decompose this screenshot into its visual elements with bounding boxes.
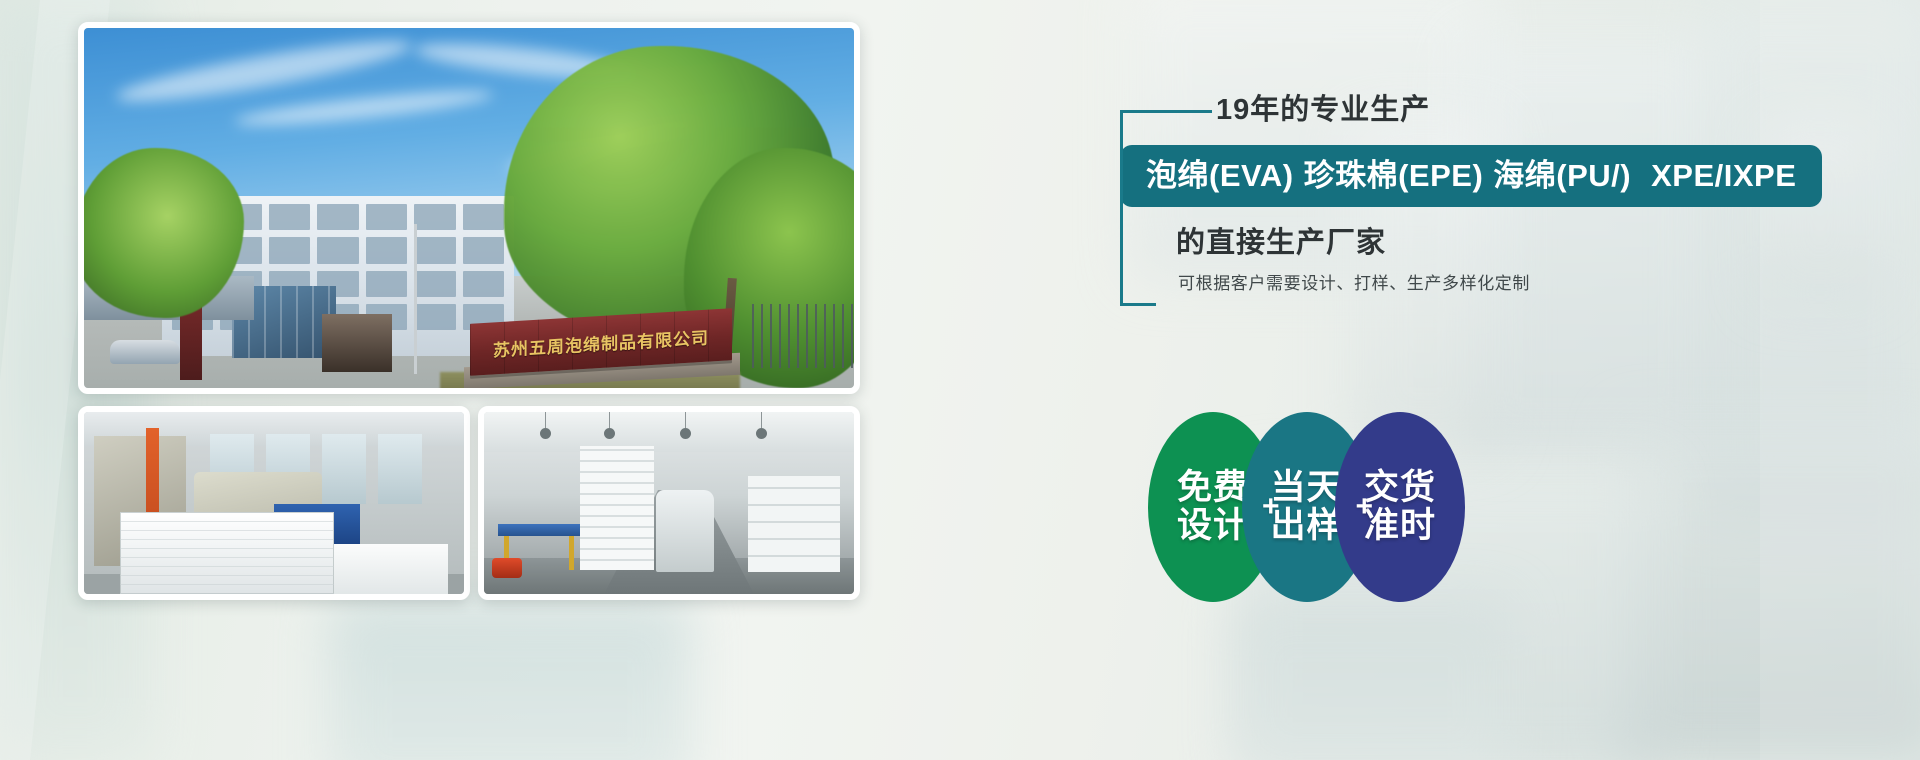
photo-warehouse-aisle — [478, 406, 860, 600]
feature-line-1: 交货 — [1364, 469, 1436, 507]
feature-line-2: 设计 — [1177, 507, 1249, 545]
headline-bottom: 的直接生产厂家 — [1176, 229, 1880, 258]
feature-line-1: 当天 — [1271, 469, 1343, 507]
bracket-connector-icon — [1120, 110, 1156, 306]
photo-cutting-workshop — [78, 406, 470, 600]
photo-company-building: 苏州五周泡绵制品有限公司 — [78, 22, 860, 394]
product-item-xpe: XPE/IXPE — [1651, 158, 1796, 193]
products-pill: 泡绵(EVA)珍珠棉(EPE)海绵(PU/)XPE/IXPE — [1120, 145, 1822, 207]
photo-collage: 苏州五周泡绵制品有限公司 — [78, 22, 860, 600]
feature-circles: 免费 设计 + 当天 出样 + 交货 准时 — [1148, 412, 1465, 602]
promo-banner: 苏州五周泡绵制品有限公司 — [0, 0, 1920, 760]
bracket-top-rule-icon — [1156, 110, 1212, 113]
product-item-pu: 海绵(PU/) — [1493, 158, 1631, 193]
feature-line-2: 出样 — [1271, 507, 1343, 545]
feature-line-1: 免费 — [1177, 469, 1249, 507]
plus-icon: + — [1356, 490, 1374, 524]
subtitle-text: 可根据客户需要设计、打样、生产多样化定制 — [1178, 275, 1880, 292]
product-item-eva: 泡绵(EVA) — [1146, 158, 1294, 193]
feature-line-2: 准时 — [1364, 507, 1436, 545]
headline-top: 19年的专业生产 — [1216, 88, 1880, 125]
company-name-text: 苏州五周泡绵制品有限公司 — [493, 323, 709, 361]
plus-icon: + — [1262, 490, 1280, 524]
product-item-epe: 珍珠棉(EPE) — [1304, 158, 1484, 193]
headline-block: 19年的专业生产 泡绵(EVA)珍珠棉(EPE)海绵(PU/)XPE/IXPE … — [1120, 88, 1880, 292]
